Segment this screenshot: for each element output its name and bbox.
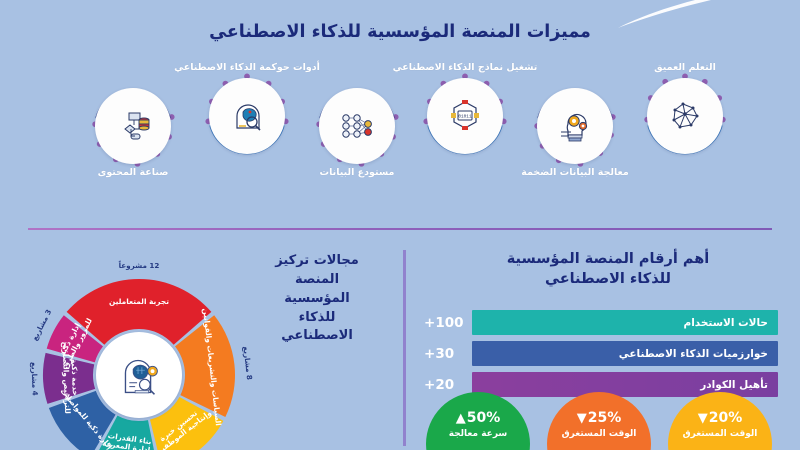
- neural-network-icon: [333, 102, 381, 150]
- donut-segment-label: تجربة المتعاملين: [109, 297, 169, 306]
- kpi-number: 50%: [467, 410, 501, 426]
- feature-icon-disc: [319, 88, 395, 164]
- kpi-number: 20%: [709, 410, 743, 426]
- ai-model-chip-icon: 01011: [441, 92, 489, 140]
- stats-bar-chart: حالات الاستخدام 100+ خوارزميات الذكاء ال…: [420, 310, 778, 403]
- kpi-circle-time-reduction-25[interactable]: ▼25% الوقت المستغرق: [547, 392, 651, 450]
- focus-section-title: مجالات تركيز المنصة المؤسسية للذكاء الاص…: [258, 252, 376, 346]
- stat-bar-fill: حالات الاستخدام: [472, 310, 778, 335]
- feature-badge: [537, 88, 613, 164]
- arrow-down-icon: ▼: [698, 411, 708, 426]
- feature-badge: [319, 88, 395, 164]
- kpi-circles-row: ▼20% الوقت المستغرق ▼25% الوقت المستغرق …: [426, 392, 772, 450]
- focus-title-line-1: مجالات تركيز: [258, 252, 376, 271]
- feature-badge: 01011: [427, 78, 503, 154]
- stat-bar-row-use-cases[interactable]: حالات الاستخدام 100+: [420, 310, 778, 335]
- kpi-number: 25%: [588, 410, 622, 426]
- feature-badge: [95, 88, 171, 164]
- feature-badge: [647, 78, 723, 154]
- stat-bar-value: 30+: [420, 346, 472, 362]
- feature-icon-disc: [537, 88, 613, 164]
- donut-count-label: 8 مشاريع: [242, 346, 255, 381]
- workflow-database-icon: [109, 102, 157, 150]
- kpi-label: الوقت المستغرق: [547, 429, 651, 440]
- focus-title-line-2: المنصة: [258, 271, 376, 290]
- head-brain-magnifier-icon: [223, 92, 271, 140]
- kpi-value: ▲50%: [426, 410, 530, 426]
- focus-title-line-4: للذكاء: [258, 309, 376, 328]
- stat-bar-label: خوارزميات الذكاء الاصطناعي: [619, 348, 768, 360]
- donut-count-label: 12 مشروعاً: [118, 260, 159, 270]
- stat-bar-value: 100+: [420, 315, 472, 331]
- focus-title-line-3: المؤسسية: [258, 290, 376, 309]
- stats-title-line-1: أهم أرقام المنصة المؤسسية: [438, 250, 778, 270]
- vertical-divider: [403, 250, 406, 446]
- kpi-label: سرعة معالجة: [426, 429, 530, 440]
- stat-bar-value: 20+: [420, 377, 472, 393]
- feature-icon-disc: 01011: [427, 78, 503, 154]
- feature-icon-disc: [647, 78, 723, 154]
- kpi-circle-processing-speed-50[interactable]: ▲50% سرعة معالجة: [426, 392, 530, 450]
- kpi-value: ▼20%: [668, 410, 772, 426]
- page-title: مميزات المنصة المؤسسية للذكاء الاصطناعي: [0, 22, 800, 42]
- brain-network-icon: [661, 92, 709, 140]
- focus-title-line-5: الاصطناعي: [258, 327, 376, 346]
- arrow-up-icon: ▲: [456, 411, 466, 426]
- kpi-value: ▼25%: [547, 410, 651, 426]
- features-row: التعلم العميق: [0, 62, 800, 202]
- feature-badge: [209, 78, 285, 154]
- donut-count-label: 3 مشاريع: [30, 308, 53, 342]
- head-brain-ai-icon: [110, 346, 168, 404]
- stat-bar-label: تأهيل الكوادر: [700, 379, 768, 391]
- donut-count-label: 4 مشاريع: [29, 362, 39, 396]
- donut-center-hub: [96, 332, 182, 418]
- svg-text:01011: 01011: [458, 114, 472, 119]
- kpi-label: الوقت المستغرق: [668, 429, 772, 440]
- arrow-down-icon: ▼: [577, 411, 587, 426]
- stat-bar-label: حالات الاستخدام: [684, 317, 769, 329]
- feature-icon-disc: [95, 88, 171, 164]
- horizontal-divider: [28, 228, 772, 230]
- feature-item-content-creation[interactable]: صناعة المحتوى: [58, 84, 208, 179]
- feature-icon-disc: [209, 78, 285, 154]
- focus-areas-donut-chart: تجربة المتعاملينالسياسات والتشريعات والق…: [8, 244, 270, 450]
- kpi-circle-time-reduction-20[interactable]: ▼20% الوقت المستغرق: [668, 392, 772, 450]
- stats-title-line-2: للذكاء الاصطناعي: [438, 270, 778, 290]
- lightbulb-gears-icon: [551, 102, 599, 150]
- stats-section-title: أهم أرقام المنصة المؤسسية للذكاء الاصطنا…: [438, 250, 778, 289]
- stat-bar-row-ai-algorithms[interactable]: خوارزميات الذكاء الاصطناعي 30+: [420, 341, 778, 366]
- stat-bar-fill: خوارزميات الذكاء الاصطناعي: [472, 341, 778, 366]
